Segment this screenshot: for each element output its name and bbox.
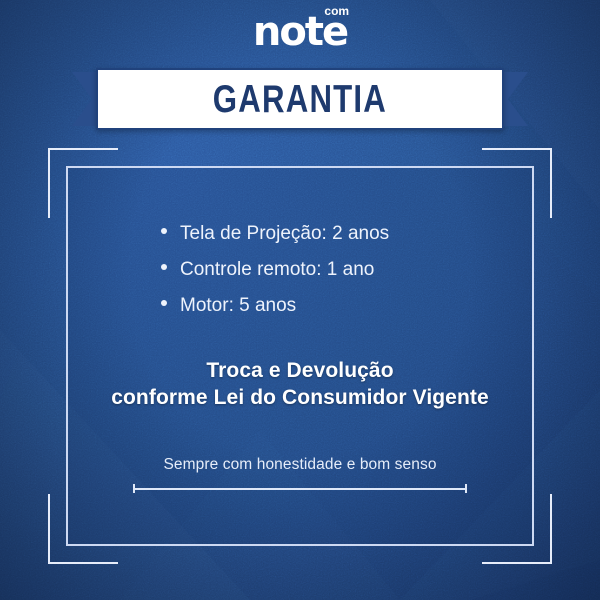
list-item: Tela de Projeção: 2 anos — [161, 224, 389, 243]
ribbon-plate: GARANTIA — [96, 68, 504, 130]
bullet-dot-icon — [161, 300, 167, 306]
logo-lockup: note com — [253, 12, 347, 52]
warranty-item-label: Motor: 5 anos — [180, 296, 296, 315]
bullet-dot-icon — [161, 264, 167, 270]
tagline-divider — [133, 484, 467, 493]
divider-line — [133, 488, 467, 490]
policy-statement: Troca e Devolução conforme Lei do Consum… — [66, 358, 534, 412]
warranty-item-label: Controle remoto: 1 ano — [180, 260, 374, 279]
page-title: GARANTIA — [213, 80, 387, 119]
list-item: Motor: 5 anos — [161, 296, 389, 315]
policy-line-1: Troca e Devolução — [66, 358, 534, 385]
policy-line-2: conforme Lei do Consumidor Vigente — [66, 385, 534, 412]
brand-logo: note com — [0, 0, 600, 64]
logo-domain-suffix: com — [324, 5, 349, 17]
footer-tagline: Sempre com honestidade e bom senso — [66, 457, 534, 473]
content-area: Tela de Projeção: 2 anos Controle remoto… — [66, 166, 534, 546]
warranty-poster: note com GARANTIA Tela de Projeção: 2 an… — [0, 0, 600, 600]
warranty-list: Tela de Projeção: 2 anos Controle remoto… — [161, 224, 389, 332]
divider-cap-right — [465, 484, 467, 493]
warranty-item-label: Tela de Projeção: 2 anos — [180, 224, 389, 243]
list-item: Controle remoto: 1 ano — [161, 260, 389, 279]
banner-ribbon: GARANTIA — [72, 68, 528, 130]
logo-wordmark: note — [253, 12, 347, 52]
bullet-dot-icon — [161, 228, 167, 234]
